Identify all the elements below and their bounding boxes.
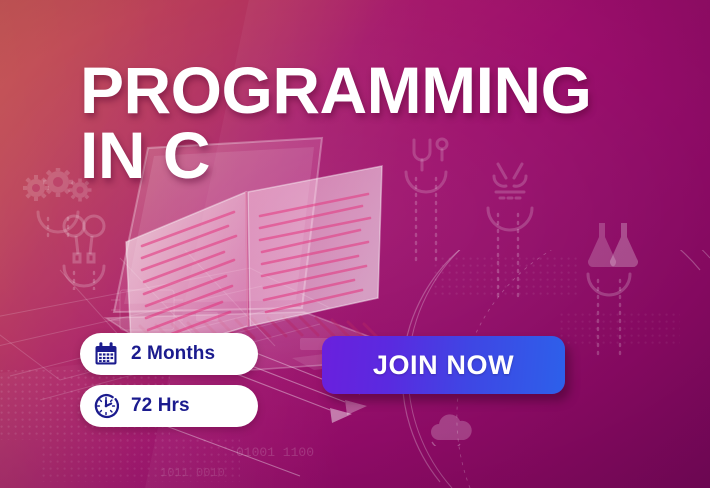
clock-icon — [93, 393, 119, 419]
join-now-button[interactable]: JOIN NOW — [322, 336, 565, 394]
calendar-icon — [93, 341, 119, 367]
svg-text:1011 0010: 1011 0010 — [160, 466, 225, 480]
flasks-icon — [580, 212, 638, 362]
info-pill-hours: 72 Hrs — [80, 385, 258, 427]
page-title: PROGRAMMING IN C — [80, 58, 680, 187]
info-pill-hours-label: 72 Hrs — [131, 395, 190, 417]
cloud-icon — [426, 412, 478, 446]
info-pill-duration: 2 Months — [80, 333, 258, 375]
course-promo-banner: 01001 1100 1011 0010 — [0, 0, 710, 488]
svg-text:01001 1100: 01001 1100 — [236, 445, 314, 460]
info-pill-duration-label: 2 Months — [131, 343, 215, 365]
scissors-icon — [58, 212, 110, 290]
